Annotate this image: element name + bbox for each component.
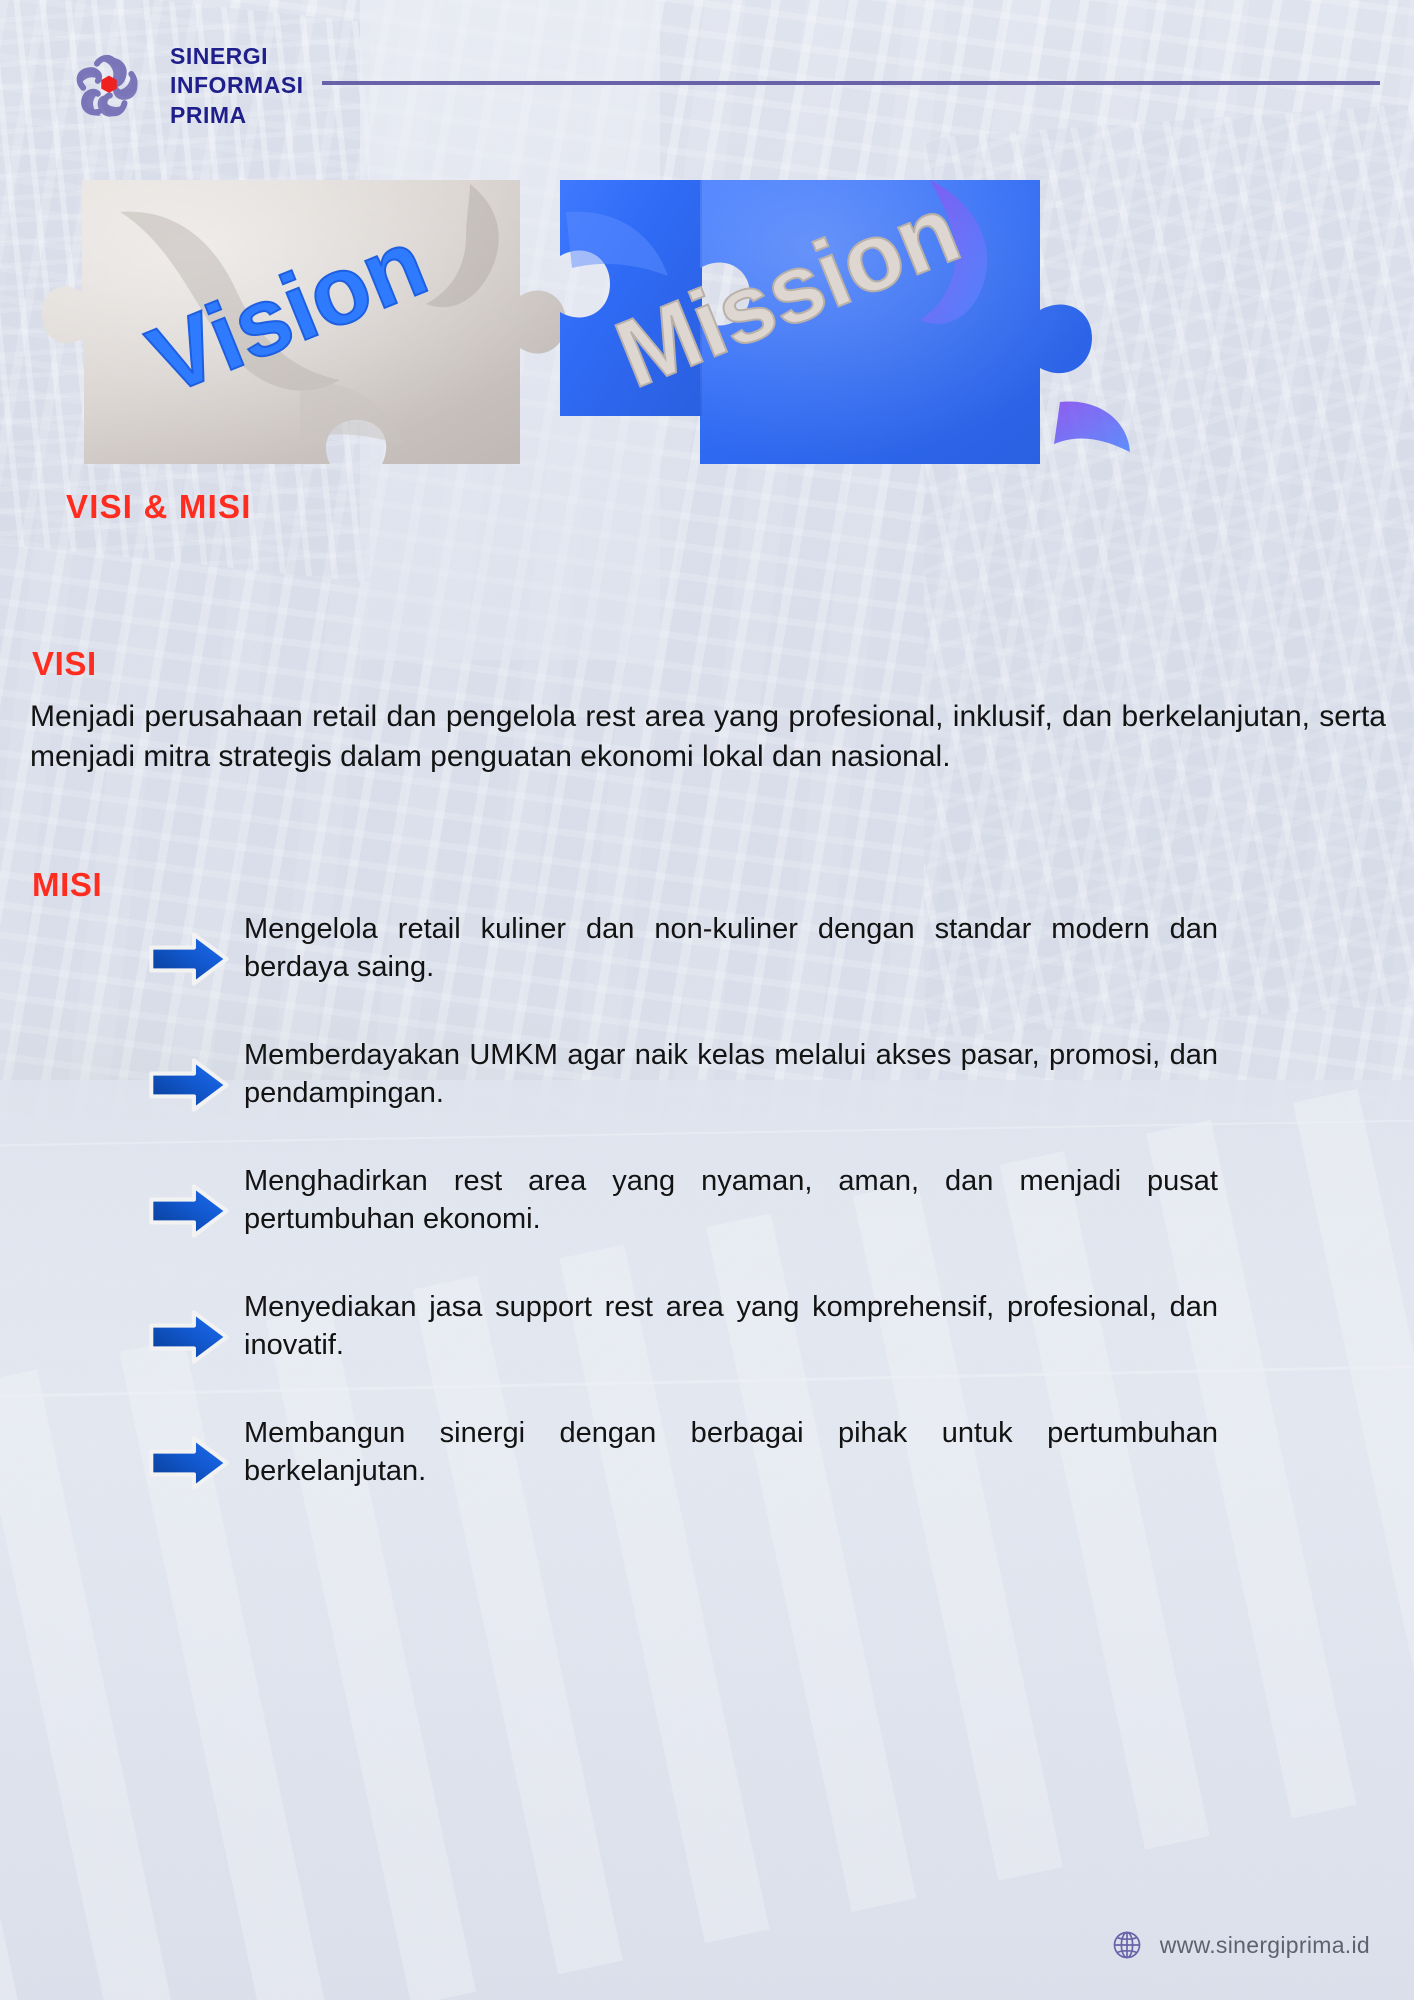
- page-title: VISI & MISI: [66, 488, 252, 526]
- brand-name: SINERGI INFORMASI PRIMA: [170, 42, 304, 130]
- blue-right-arrow-icon: [148, 1309, 230, 1365]
- list-item: Memberdayakan UMKM agar naik kelas melal…: [148, 1031, 1328, 1141]
- blue-right-arrow-icon: [148, 1435, 230, 1491]
- arrow-cell: [148, 905, 244, 987]
- misi-item-text: Membangun sinergi dengan berbagai pihak …: [244, 1409, 1328, 1490]
- header-divider-rule: [322, 81, 1380, 85]
- arrow-cell: [148, 1283, 244, 1365]
- misi-list: Mengelola retail kuliner dan non-kuliner…: [148, 905, 1328, 1535]
- section-title-visi: VISI: [32, 645, 97, 683]
- misi-item-text: Menghadirkan rest area yang nyaman, aman…: [244, 1157, 1328, 1238]
- list-item: Menyediakan jasa support rest area yang …: [148, 1283, 1328, 1393]
- misi-item-text: Memberdayakan UMKM agar naik kelas melal…: [244, 1031, 1328, 1112]
- page-header: SINERGI INFORMASI PRIMA: [0, 0, 1414, 165]
- arrow-cell: [148, 1409, 244, 1491]
- list-item: Menghadirkan rest area yang nyaman, aman…: [148, 1157, 1328, 1267]
- blue-right-arrow-icon: [148, 931, 230, 987]
- blue-right-arrow-icon: [148, 1057, 230, 1113]
- misi-item-text: Menyediakan jasa support rest area yang …: [244, 1283, 1328, 1364]
- visi-body-text: Menjadi perusahaan retail dan pengelola …: [30, 697, 1386, 776]
- list-item: Mengelola retail kuliner dan non-kuliner…: [148, 905, 1328, 1015]
- misi-item-text: Mengelola retail kuliner dan non-kuliner…: [244, 905, 1328, 986]
- arrow-cell: [148, 1031, 244, 1113]
- vision-mission-puzzle-banner: Vision Mission: [0, 172, 1414, 472]
- section-title-misi: MISI: [32, 866, 102, 904]
- sinergi-pinwheel-logo-icon: [66, 43, 152, 129]
- brand-lockup: SINERGI INFORMASI PRIMA: [66, 42, 304, 130]
- arrow-cell: [148, 1157, 244, 1239]
- brand-name-line-1: SINERGI: [170, 43, 268, 69]
- list-item: Membangun sinergi dengan berbagai pihak …: [148, 1409, 1328, 1519]
- poster-canvas: SINERGI INFORMASI PRIMA: [0, 0, 1414, 2000]
- brand-name-line-3: PRIMA: [170, 102, 247, 128]
- globe-icon: [1110, 1928, 1144, 1962]
- website-url[interactable]: www.sinergiprima.id: [1160, 1932, 1370, 1959]
- footer: www.sinergiprima.id: [1110, 1928, 1370, 1962]
- brand-name-line-2: INFORMASI: [170, 72, 304, 98]
- blue-right-arrow-icon: [148, 1183, 230, 1239]
